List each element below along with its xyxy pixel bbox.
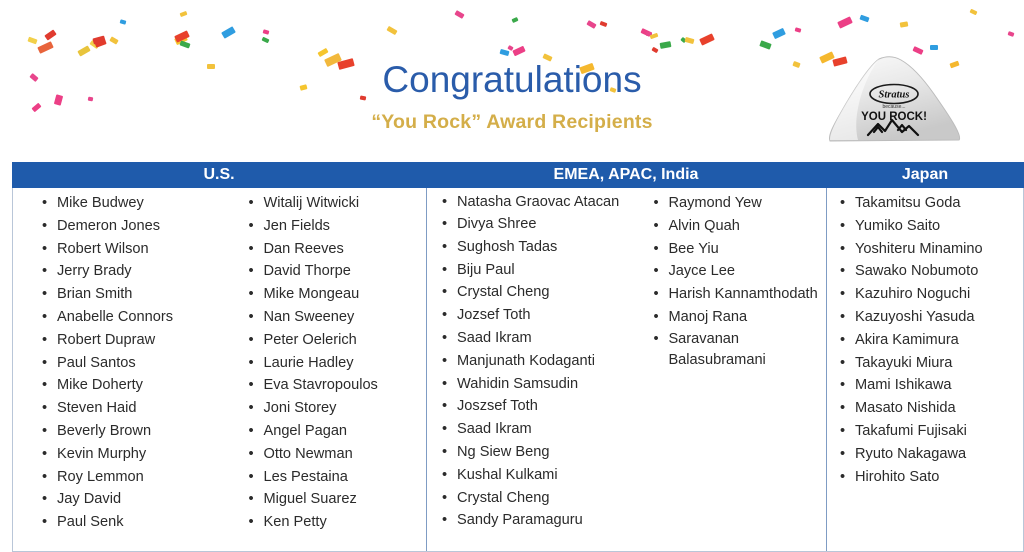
bullet-icon: • — [248, 397, 253, 420]
recipient-name-text: Les Pestaina — [263, 469, 347, 485]
recipient-name-text: Mike Mongeau — [263, 286, 359, 302]
confetti-piece — [174, 34, 188, 45]
recipient-name: •Jen Fields — [241, 215, 426, 238]
recipient-name-text: Beverly Brown — [57, 423, 151, 439]
recipient-name-text: Ng Siew Beng — [457, 444, 549, 460]
recipient-name-text: Jayce Lee — [668, 263, 735, 279]
bullet-icon: • — [653, 215, 658, 238]
us-name-list-1: •Mike Budwey•Demeron Jones•Robert Wilson… — [13, 192, 241, 551]
recipient-name: •Dan Reeves — [241, 238, 426, 261]
confetti-piece — [261, 37, 269, 44]
recipient-name-text: Raymond Yew — [668, 195, 761, 211]
recipient-name: •Raymond Yew — [646, 192, 826, 215]
column-header-emea: EMEA, APAC, India — [426, 162, 826, 188]
bullet-icon: • — [42, 397, 47, 420]
recipient-name-text: Paul Santos — [57, 355, 136, 371]
bullet-icon: • — [42, 488, 47, 511]
recipient-name-text: Brian Smith — [57, 286, 132, 302]
recipient-name-text: Divya Shree — [457, 216, 537, 232]
recipient-name: •Joszsef Toth — [435, 395, 646, 418]
recipient-name: •Bee Yiu — [646, 238, 826, 261]
recipient-name-text: Bee Yiu — [668, 241, 718, 257]
recipient-name-text: Anabelle Connors — [57, 309, 173, 325]
recipient-name-text: Jen Fields — [263, 218, 330, 234]
recipient-name: •Kazuhiro Noguchi — [833, 283, 1023, 306]
confetti-piece — [386, 26, 397, 35]
confetti-piece — [1007, 31, 1014, 37]
confetti-piece — [640, 28, 651, 37]
confetti-piece — [174, 30, 190, 42]
bullet-icon: • — [42, 511, 47, 534]
recipient-name: •Crystal Cheng — [435, 281, 646, 304]
region-column-emea: •Natasha Graovac Atacan•Divya Shree•Sugh… — [427, 188, 827, 551]
bullet-icon: • — [653, 260, 658, 283]
bullet-icon: • — [248, 192, 253, 215]
recipient-name: •Wahidin Samsudin — [435, 373, 646, 396]
recipient-name: •Paul Santos — [35, 352, 241, 375]
recipient-name: •Yoshiteru Minamino — [833, 238, 1023, 261]
bullet-icon: • — [653, 238, 658, 261]
bullet-icon: • — [248, 352, 253, 375]
recipient-name-text: Takamitsu Goda — [855, 195, 960, 211]
recipient-name-text: Robert Wilson — [57, 241, 149, 257]
recipient-name: •Jayce Lee — [646, 260, 826, 283]
bullet-icon: • — [248, 466, 253, 489]
award-recipients-table: U.S. EMEA, APAC, India Japan •Mike Budwe… — [12, 162, 1024, 552]
recipient-name-text: Joszsef Toth — [457, 398, 538, 414]
bullet-icon: • — [248, 238, 253, 261]
confetti-piece — [263, 29, 270, 34]
recipient-name-text: Laurie Hadley — [263, 355, 353, 371]
recipient-name-text: Robert Dupraw — [57, 332, 155, 348]
recipient-name: •Jerry Brady — [35, 260, 241, 283]
recipient-name-text: Eva Stavropoulos — [263, 377, 377, 393]
confetti-piece — [930, 45, 938, 50]
recipient-name-text: Alvin Quah — [668, 218, 739, 234]
recipient-name: •Takafumi Fujisaki — [833, 420, 1023, 443]
recipient-name-text: Nan Sweeney — [263, 309, 354, 325]
recipient-name: •Natasha Graovac Atacan — [435, 192, 646, 213]
recipient-name-text: Hirohito Sato — [855, 469, 939, 485]
recipient-name: •Kushal Kulkami — [435, 464, 646, 487]
recipient-name: •Kevin Murphy — [35, 443, 241, 466]
bullet-icon: • — [248, 511, 253, 534]
us-name-list-2: •Witalij Witwicki•Jen Fields•Dan Reeves•… — [241, 192, 426, 551]
bullet-icon: • — [442, 236, 447, 259]
confetti-piece — [586, 20, 596, 29]
confetti-piece — [759, 40, 771, 49]
recipient-name: •Mike Doherty — [35, 374, 241, 397]
recipient-name: •Manjunath Kodaganti — [435, 350, 646, 373]
recipient-name-text: Ken Petty — [263, 514, 326, 530]
confetti-piece — [512, 46, 525, 57]
confetti-piece — [646, 32, 652, 36]
confetti-piece — [500, 49, 510, 56]
confetti-piece — [120, 19, 127, 24]
recipient-name: •Mike Mongeau — [241, 283, 426, 306]
bullet-icon: • — [840, 260, 845, 283]
recipient-name: •Sughosh Tadas — [435, 236, 646, 259]
recipient-name: •Angel Pagan — [241, 420, 426, 443]
bullet-icon: • — [653, 329, 658, 350]
recipient-name: •Takamitsu Goda — [833, 192, 1023, 215]
recipient-name: •Akira Kamimura — [833, 329, 1023, 352]
column-header-us: U.S. — [12, 162, 426, 188]
bullet-icon: • — [442, 281, 447, 304]
bullet-icon: • — [840, 238, 845, 261]
recipient-name-text: Kazuhiro Noguchi — [855, 286, 970, 302]
confetti-piece — [600, 21, 608, 27]
recipient-name-text: Mike Doherty — [57, 377, 143, 393]
recipient-name: •Ryuto Nakagawa — [833, 443, 1023, 466]
recipient-name-text: Mami Ishikawa — [855, 377, 952, 393]
bullet-icon: • — [840, 215, 845, 238]
bullet-icon: • — [840, 352, 845, 375]
bullet-icon: • — [840, 397, 845, 420]
trophy-brand-text: Stratus — [879, 90, 910, 101]
bullet-icon: • — [442, 487, 447, 510]
region-column-us: •Mike Budwey•Demeron Jones•Robert Wilson… — [13, 188, 427, 551]
recipient-name-text: Natasha Graovac Atacan — [457, 194, 619, 210]
recipient-name: •Nan Sweeney — [241, 306, 426, 329]
confetti-piece — [685, 37, 695, 44]
recipient-name-text: Saravanan Balasubramani — [668, 331, 765, 368]
bullet-icon: • — [442, 304, 447, 327]
bullet-icon: • — [42, 443, 47, 466]
bullet-icon: • — [653, 283, 658, 306]
region-column-japan: •Takamitsu Goda•Yumiko Saito•Yoshiteru M… — [827, 188, 1023, 551]
confetti-piece — [507, 45, 513, 51]
recipient-name: •Alvin Quah — [646, 215, 826, 238]
recipient-name-text: Miguel Suarez — [263, 491, 356, 507]
bullet-icon: • — [442, 464, 447, 487]
recipient-name-text: Kazuyoshi Yasuda — [855, 309, 975, 325]
recipient-name-text: Yumiko Saito — [855, 218, 940, 234]
bullet-icon: • — [42, 306, 47, 329]
bullet-icon: • — [248, 420, 253, 443]
bullet-icon: • — [42, 352, 47, 375]
recipient-name: •Eva Stavropoulos — [241, 374, 426, 397]
recipient-name-text: Sughosh Tadas — [457, 239, 557, 255]
recipient-name: •Biju Paul — [435, 259, 646, 282]
recipient-name-text: Takayuki Miura — [855, 355, 952, 371]
recipient-name-text: Jozsef Toth — [457, 307, 531, 323]
bullet-icon: • — [840, 192, 845, 215]
bullet-icon: • — [442, 395, 447, 418]
bullet-icon: • — [442, 509, 447, 532]
you-rock-trophy-image: Stratus because... YOU ROCK! — [818, 56, 970, 148]
bullet-icon: • — [442, 327, 447, 350]
confetti-piece — [900, 21, 909, 27]
recipient-name-text: Joni Storey — [263, 400, 336, 416]
recipient-name: •Steven Haid — [35, 397, 241, 420]
recipient-name: •Joni Storey — [241, 397, 426, 420]
bullet-icon: • — [248, 374, 253, 397]
confetti-piece — [109, 36, 118, 44]
bullet-icon: • — [442, 259, 447, 282]
confetti-piece — [651, 47, 658, 53]
recipient-name-text: Akira Kamimura — [855, 332, 959, 348]
confetti-piece — [94, 38, 106, 47]
recipient-name-text: Ryuto Nakagawa — [855, 446, 966, 462]
bullet-icon: • — [248, 306, 253, 329]
recipient-name-text: Kushal Kulkami — [457, 467, 558, 483]
bullet-icon: • — [442, 441, 447, 464]
bullet-icon: • — [442, 350, 447, 373]
recipient-name: •Demeron Jones — [35, 215, 241, 238]
confetti-piece — [27, 37, 37, 45]
bullet-icon: • — [653, 192, 658, 215]
recipient-name: •Takayuki Miura — [833, 352, 1023, 375]
bullet-icon: • — [840, 283, 845, 306]
recipient-name-text: Saad Ikram — [457, 421, 532, 437]
bullet-icon: • — [42, 215, 47, 238]
recipient-name-text: Takafumi Fujisaki — [855, 423, 967, 439]
recipient-name-text: Wahidin Samsudin — [457, 376, 578, 392]
recipient-name-text: Biju Paul — [457, 262, 515, 278]
bullet-icon: • — [840, 466, 845, 489]
recipient-name: •Crystal Cheng — [435, 487, 646, 510]
recipient-name-text: Witalij Witwicki — [263, 195, 359, 211]
bullet-icon: • — [840, 374, 845, 397]
recipient-name: •Les Pestaina — [241, 466, 426, 489]
confetti-piece — [969, 9, 977, 16]
recipient-name-text: Jerry Brady — [57, 263, 132, 279]
recipient-name-text: Otto Newman — [263, 446, 352, 462]
recipient-name: •Paul Senk — [35, 511, 241, 534]
bullet-icon: • — [42, 374, 47, 397]
confetti-piece — [44, 29, 56, 40]
recipient-name-text: David Thorpe — [263, 263, 350, 279]
bullet-icon: • — [653, 306, 658, 329]
recipient-name-text: Yoshiteru Minamino — [855, 241, 983, 257]
column-header-japan: Japan — [826, 162, 1024, 188]
recipient-name: •Jay David — [35, 488, 241, 511]
recipient-name-text: Paul Senk — [57, 514, 124, 530]
confetti-piece — [660, 41, 672, 49]
recipient-name: •Divya Shree — [435, 213, 646, 236]
recipient-name-text: Kevin Murphy — [57, 446, 146, 462]
table-header-row: U.S. EMEA, APAC, India Japan — [12, 162, 1024, 188]
bullet-icon: • — [248, 329, 253, 352]
recipient-name-text: Sawako Nobumoto — [855, 263, 978, 279]
bullet-icon: • — [840, 329, 845, 352]
recipient-name-text: Saad Ikram — [457, 330, 532, 346]
recipient-name: •Robert Wilson — [35, 238, 241, 261]
recipient-name: •Saad Ikram — [435, 327, 646, 350]
bullet-icon: • — [248, 443, 253, 466]
recipient-name: •Yumiko Saito — [833, 215, 1023, 238]
recipient-name: •Sawako Nobumoto — [833, 260, 1023, 283]
bullet-icon: • — [840, 420, 845, 443]
recipient-name: •Laurie Hadley — [241, 352, 426, 375]
recipient-name-text: Peter Oelerich — [263, 332, 356, 348]
confetti-piece — [650, 33, 659, 39]
recipient-name: •Mike Budwey — [35, 192, 241, 215]
recipient-name-text: Sandy Paramaguru — [457, 512, 583, 528]
confetti-piece — [795, 27, 802, 32]
confetti-piece — [92, 36, 105, 45]
bullet-icon: • — [248, 215, 253, 238]
confetti-piece — [454, 10, 464, 19]
recipient-name-text: Manjunath Kodaganti — [457, 353, 595, 369]
recipient-name: •Peter Oelerich — [241, 329, 426, 352]
recipient-name: •Mami Ishikawa — [833, 374, 1023, 397]
recipient-name: •Saravanan Balasubramani — [646, 329, 826, 371]
recipient-name-text: Demeron Jones — [57, 218, 160, 234]
bullet-icon: • — [42, 466, 47, 489]
bullet-icon: • — [442, 192, 447, 213]
emea-name-list-2: •Raymond Yew•Alvin Quah•Bee Yiu•Jayce Le… — [646, 192, 826, 551]
recipient-name: •Ken Petty — [241, 511, 426, 534]
recipient-name: •David Thorpe — [241, 260, 426, 283]
confetti-piece — [912, 46, 923, 55]
japan-name-list: •Takamitsu Goda•Yumiko Saito•Yoshiteru M… — [827, 192, 1023, 551]
bullet-icon: • — [840, 306, 845, 329]
bullet-icon: • — [442, 213, 447, 236]
bullet-icon: • — [248, 488, 253, 511]
recipient-name: •Masato Nishida — [833, 397, 1023, 420]
bullet-icon: • — [42, 420, 47, 443]
confetti-piece — [37, 41, 54, 54]
table-body: •Mike Budwey•Demeron Jones•Robert Wilson… — [12, 188, 1024, 552]
recipient-name: •Otto Newman — [241, 443, 426, 466]
recipient-name-text: Roy Lemmon — [57, 469, 144, 485]
recipient-name: •Anabelle Connors — [35, 306, 241, 329]
recipient-name-text: Dan Reeves — [263, 241, 343, 257]
confetti-piece — [221, 26, 236, 39]
confetti-piece — [317, 48, 328, 57]
bullet-icon: • — [42, 260, 47, 283]
recipient-name: •Jozsef Toth — [435, 304, 646, 327]
recipient-name: •Saad Ikram — [435, 418, 646, 441]
recipient-name: •Manoj Rana — [646, 306, 826, 329]
bullet-icon: • — [442, 418, 447, 441]
confetti-piece — [680, 37, 686, 43]
confetti-piece — [859, 15, 869, 23]
confetti-piece — [77, 45, 90, 56]
confetti-piece — [180, 11, 188, 17]
confetti-piece — [772, 28, 786, 39]
recipient-name: •Harish Kannamthodath — [646, 283, 826, 306]
bullet-icon: • — [442, 373, 447, 396]
confetti-piece — [699, 33, 715, 45]
recipient-name-text: Crystal Cheng — [457, 284, 549, 300]
recipient-name: •Sandy Paramaguru — [435, 509, 646, 532]
bullet-icon: • — [42, 238, 47, 261]
recipient-name: •Miguel Suarez — [241, 488, 426, 511]
confetti-piece — [837, 16, 853, 28]
recipient-name: •Brian Smith — [35, 283, 241, 306]
confetti-piece — [89, 40, 99, 49]
recipient-name: •Ng Siew Beng — [435, 441, 646, 464]
bullet-icon: • — [42, 283, 47, 306]
recipient-name-text: Manoj Rana — [668, 309, 747, 325]
trophy-tagline-text: because... — [882, 104, 905, 110]
bullet-icon: • — [248, 283, 253, 306]
bullet-icon: • — [248, 260, 253, 283]
recipient-name: •Robert Dupraw — [35, 329, 241, 352]
confetti-piece — [179, 40, 190, 48]
recipient-name-text: Jay David — [57, 491, 121, 507]
recipient-name-text: Angel Pagan — [263, 423, 347, 439]
recipient-name: •Witalij Witwicki — [241, 192, 426, 215]
recipient-name: •Hirohito Sato — [833, 466, 1023, 489]
recipient-name-text: Harish Kannamthodath — [668, 286, 817, 302]
recipient-name-text: Masato Nishida — [855, 400, 956, 416]
emea-name-list-1: •Natasha Graovac Atacan•Divya Shree•Sugh… — [427, 192, 646, 551]
recipient-name-text: Mike Budwey — [57, 195, 144, 211]
bullet-icon: • — [42, 192, 47, 215]
bullet-icon: • — [840, 443, 845, 466]
recipient-name: •Kazuyoshi Yasuda — [833, 306, 1023, 329]
recipient-name-text: Crystal Cheng — [457, 490, 549, 506]
bullet-icon: • — [42, 329, 47, 352]
recipient-name: •Beverly Brown — [35, 420, 241, 443]
recipient-name-text: Steven Haid — [57, 400, 137, 416]
confetti-piece — [511, 17, 518, 23]
recipient-name: •Roy Lemmon — [35, 466, 241, 489]
